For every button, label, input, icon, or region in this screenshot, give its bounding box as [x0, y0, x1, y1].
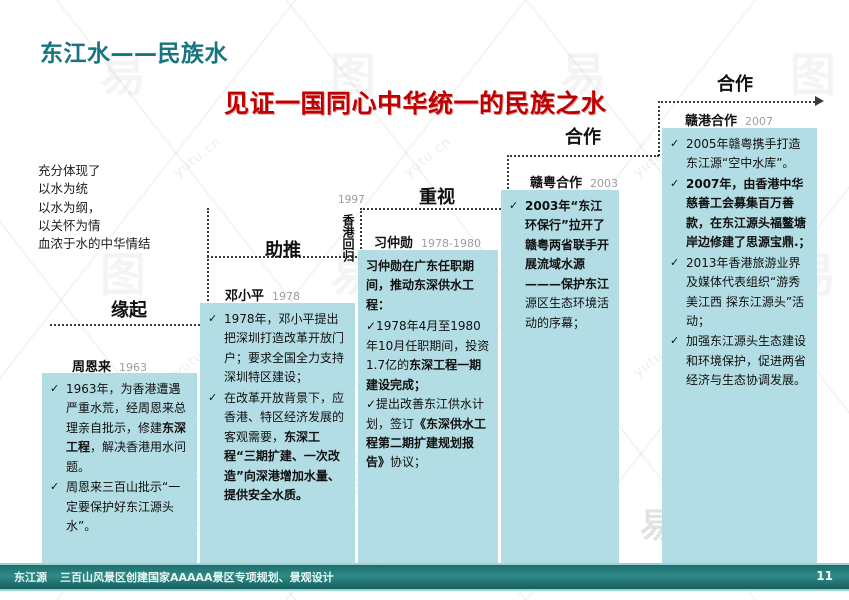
panel-lead-line: 习仲勋在广东任职期间，推动东深供水工程：	[366, 259, 474, 312]
list-item-text: 2005年赣粤携手打造东江源“空中水库”。	[686, 137, 801, 170]
check-icon: ✓	[509, 197, 518, 215]
stair-line-h4	[507, 155, 659, 157]
column-header-3: 赣粤合作2003	[530, 172, 618, 191]
list-item: ✓2007年，由香港中华慈善工会募集百万善款，在东江源头福鳌塘岸边修建了思源宝鼎…	[670, 175, 811, 253]
content-panel-2: 习仲勋在广东任职期间，推动东深供水工程： ✓1978年4月至1980年10月任职…	[358, 250, 498, 566]
stair-year-1997: 1997	[338, 194, 365, 206]
stage-label-2: 重视	[382, 183, 492, 209]
footer-subtitle: 三百山风景区创建国家AAAAA景区专项规划、景观设计	[60, 569, 334, 585]
banner-title: 见证一国同心中华统一的民族之水	[224, 84, 607, 120]
page-title: 东江水——民族水	[40, 34, 228, 68]
check-icon: ✓	[208, 310, 217, 328]
list-item-text: 在改革开放背景下，应香港、特区经济发展的客观需要，东深工程“三期扩建、一次改造”…	[224, 391, 344, 502]
list-item: ✓在改革开放背景下，应香港、特区经济发展的客观需要，东深工程“三期扩建、一次改造…	[208, 389, 349, 506]
watermark-word: yutu.cn	[401, 134, 454, 180]
list-item-text: 2013年香港旅游业界及媒体代表组织“游秀美江西 探东江源头”活动；	[686, 256, 804, 328]
content-panel-1: ✓1978年，邓小平提出把深圳打造改革开放门户；要求全国全力支持深圳特区建设； …	[200, 303, 355, 566]
column-who-0: 周恩来	[72, 360, 111, 375]
check-icon: ✓	[670, 332, 679, 350]
panel-sub-item: ✓1978年4月至1980年10月任职期间，投资1.7亿的东深工程一期建设完成；	[366, 317, 491, 395]
list-item-text: 1978年，邓小平提出把深圳打造改革开放门户；要求全国全力支持深圳特区建设；	[224, 312, 344, 384]
list-item-text: 2003年“东江环保行”拉开了赣粤两省联手开展流域水源———保护东江源区生态环境…	[525, 199, 609, 330]
list-item: ✓2013年香港旅游业界及媒体代表组织“游秀美江西 探东江源头”活动；	[670, 254, 811, 332]
panel-sub-item: ✓提出改善东江供水计划，签订《东深供水工程第二期扩建规划报告》协议；	[366, 395, 491, 473]
list-item-text: 加强东江源头生态建设和环境保护，促进两省经济与生态协调发展。	[686, 334, 806, 387]
list-item-text: 周恩来三百山批示“一定要保护好东江源头水”。	[66, 480, 180, 533]
watermark-glyph: 图	[100, 252, 146, 298]
column-year-2: 1978-1980	[421, 237, 481, 250]
column-who-1: 邓小平	[225, 289, 264, 304]
content-panel-4: ✓2005年赣粤携手打造东江源“空中水库”。 ✓2007年，由香港中华慈善工会募…	[662, 128, 817, 566]
column-header-0: 周恩来1963	[72, 356, 147, 375]
stair-line-h1	[50, 324, 208, 326]
column-year-4: 2007	[745, 115, 773, 128]
stair-line-v4	[658, 101, 660, 156]
intro-paragraph: 充分体现了 以水为统 以水为纲， 以关怀为情 血浓于水的中华情结	[38, 162, 208, 253]
list-item: ✓2005年赣粤携手打造东江源“空中水库”。	[670, 135, 811, 174]
stair-vertical-label-1997: 香港回归	[341, 214, 354, 262]
check-icon: ✓	[670, 254, 679, 272]
check-icon: ✓	[50, 380, 59, 398]
column-who-4: 赣港合作	[685, 114, 737, 129]
watermark-glyph: 图	[790, 52, 836, 98]
stair-arrow-icon	[815, 96, 824, 106]
column-header-2: 习仲勋1978-1980	[374, 232, 481, 251]
list-item: ✓1978年，邓小平提出把深圳打造改革开放门户；要求全国全力支持深圳特区建设；	[208, 310, 349, 388]
stage-label-1: 助推	[228, 236, 338, 262]
column-who-3: 赣粤合作	[530, 176, 582, 191]
footer-bar: 东江源 三百山风景区创建国家AAAAA景区专项规划、景观设计 11	[0, 563, 849, 591]
stage-label-4: 合作	[680, 70, 790, 96]
column-who-2: 习仲勋	[374, 236, 413, 251]
panel-lead-text: 习仲勋在广东任职期间，推动东深供水工程： ✓1978年4月至1980年10月任职…	[358, 250, 498, 479]
check-icon: ✓	[670, 175, 679, 193]
list-item: ✓周恩来三百山批示“一定要保护好东江源头水”。	[50, 478, 191, 536]
list-item-text: 2007年，由香港中华慈善工会募集百万善款，在东江源头福鳌塘岸边修建了思源宝鼎.…	[686, 177, 811, 249]
footer-left-label: 东江源	[14, 569, 47, 585]
content-panel-3: ✓2003年“东江环保行”拉开了赣粤两省联手开展流域水源———保护东江源区生态环…	[501, 190, 619, 566]
list-item-text: 1963年，为香港遭遇严重水荒，经周恩来总理亲自批示，修建东深工程，解决香港用水…	[66, 382, 186, 474]
column-year-3: 2003	[590, 177, 618, 190]
column-year-0: 1963	[119, 361, 147, 374]
content-panel-0: ✓1963年，为香港遭遇严重水荒，经周恩来总理亲自批示，修建东深工程，解决香港用…	[42, 373, 197, 566]
column-header-4: 赣港合作2007	[685, 110, 773, 129]
slide-canvas: 易 图 易 图 图 易 图 易 易 图 易 yutu.cn yutu.cn yu…	[0, 0, 849, 600]
list-item: ✓加强东江源头生态建设和环境保护，促进两省经济与生态协调发展。	[670, 332, 811, 390]
stair-line-h5	[658, 101, 818, 103]
stage-label-0: 缘起	[74, 296, 184, 322]
stage-label-3: 合作	[528, 123, 638, 149]
check-icon: ✓	[208, 389, 217, 407]
column-year-1: 1978	[272, 290, 300, 303]
footer-page-number: 11	[816, 569, 833, 583]
list-item: ✓1963年，为香港遭遇严重水荒，经周恩来总理亲自批示，修建东深工程，解决香港用…	[50, 380, 191, 477]
check-icon: ✓	[670, 135, 679, 153]
check-icon: ✓	[50, 478, 59, 496]
list-item: ✓2003年“东江环保行”拉开了赣粤两省联手开展流域水源———保护东江源区生态环…	[509, 197, 613, 333]
column-header-1: 邓小平1978	[225, 285, 300, 304]
